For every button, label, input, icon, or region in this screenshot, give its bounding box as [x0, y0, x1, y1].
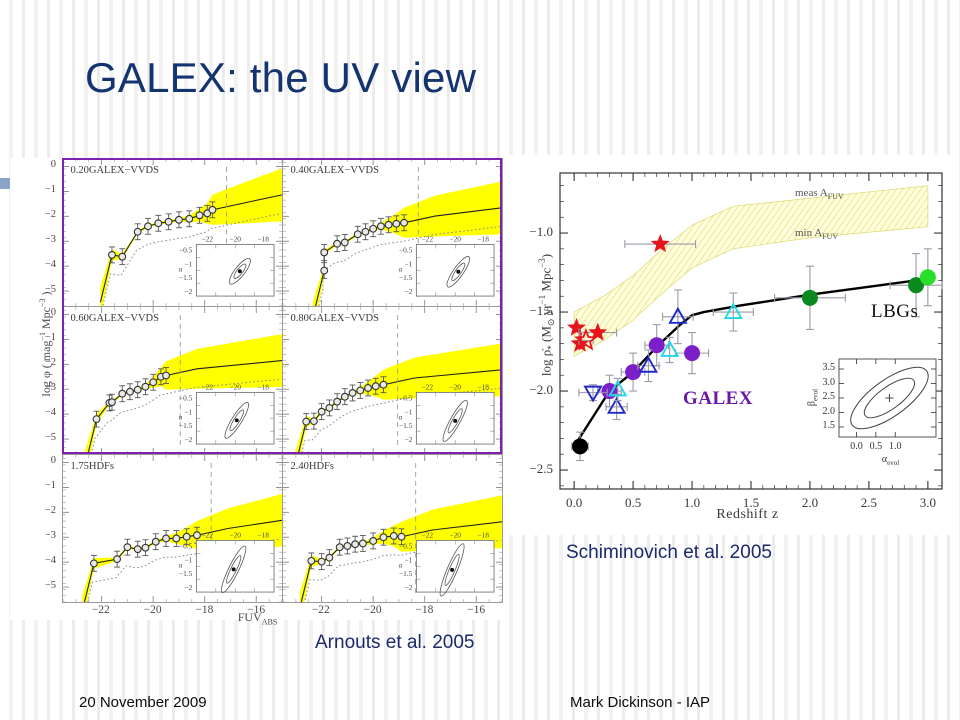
arnouts-y-tick: −3 [10, 234, 56, 245]
schiminovich-x-tick: 0.5 [625, 495, 641, 511]
inset-x-tick: 0.0 [850, 441, 863, 452]
svg-text:−2: −2 [404, 435, 412, 444]
svg-text:−22: −22 [421, 234, 433, 243]
inset-y-tick: 3.5 [801, 362, 835, 373]
schiminovich-x-tick: 1.5 [743, 495, 759, 511]
footer-author: Mark Dickinson - IAP [570, 694, 710, 711]
svg-text:−22: −22 [421, 530, 433, 539]
inset-y-tick: 2.5 [801, 391, 835, 402]
schiminovich-figure: log ρ̇* (M⊙ yr−1 Mpc−3) Redshift z −1.0−… [505, 155, 950, 535]
svg-text:−0.5: −0.5 [398, 541, 412, 550]
svg-text:−2: −2 [404, 583, 412, 592]
svg-text:−1: −1 [184, 555, 192, 564]
svg-text:−2: −2 [184, 583, 192, 592]
arnouts-x-axis-label: FUVABS [10, 610, 505, 626]
schiminovich-plot-svg [505, 155, 950, 535]
svg-text:−2: −2 [184, 435, 192, 444]
svg-text:−20: −20 [229, 530, 241, 539]
caption-schiminovich: Schiminovich et al. 2005 [566, 542, 772, 564]
svg-text:α: α [398, 413, 402, 421]
arnouts-y-tick: −2 [10, 209, 56, 220]
page-title: GALEX: the UV view [85, 54, 476, 102]
arnouts-y-tick: 0 [10, 455, 56, 466]
schiminovich-x-tick: 0.0 [566, 495, 582, 511]
schiminovich-y-tick: −1.5 [507, 303, 553, 319]
arnouts-y-tick: −2 [10, 505, 56, 516]
arnouts-y-tick: −5 [10, 432, 56, 443]
svg-text:−20: −20 [449, 530, 461, 539]
svg-text:−20: −20 [229, 382, 241, 391]
caption-arnouts: Arnouts et al. 2005 [315, 632, 475, 654]
svg-text:α: α [178, 561, 182, 569]
svg-text:−1.5: −1.5 [398, 569, 412, 578]
schiminovich-y-tick: −2.0 [507, 382, 553, 398]
schiminovich-y-tick: −2.5 [507, 461, 553, 477]
svg-text:−20: −20 [229, 234, 241, 243]
arnouts-y-tick: −4 [10, 259, 56, 270]
svg-text:α: α [398, 561, 402, 569]
galex-annotation: GALEX [683, 388, 753, 410]
meas-afuv-label: meas AFUV [795, 187, 844, 201]
svg-text:−20: −20 [449, 382, 461, 391]
schiminovich-y-tick: −1.0 [507, 224, 553, 240]
arnouts-figure: log φ ( mag−1 Mpc−3 ) 0−1−2−3−4−50−1−2−3… [10, 158, 505, 620]
min-afuv-label: min AFUV [795, 227, 838, 241]
svg-text:−20: −20 [449, 234, 461, 243]
arnouts-y-tick: −2 [10, 357, 56, 368]
svg-text:−1: −1 [184, 259, 192, 268]
inset-y-tick: 3.0 [801, 377, 835, 388]
svg-text:−0.5: −0.5 [178, 245, 192, 254]
svg-text:−22: −22 [201, 234, 213, 243]
arnouts-panel-4: 0.80GALEX−VVDS−22−20−18−0.5−1−1.5−2α [282, 306, 503, 455]
svg-text:−1.5: −1.5 [178, 421, 192, 430]
alpha-beta-contour-inset: βevol αevol 3.53.02.52.01.50.00.51.0 [805, 353, 942, 471]
svg-text:−18: −18 [477, 234, 489, 243]
svg-text:α: α [178, 265, 182, 273]
inset-y-tick: 2.0 [801, 406, 835, 417]
inset-y-tick: 1.5 [801, 420, 835, 431]
schiminovich-x-tick: 3.0 [920, 495, 936, 511]
svg-text:−1: −1 [404, 259, 412, 268]
slide-root: GALEX: the UV view log φ ( mag−1 Mpc−3 )… [0, 0, 960, 720]
svg-text:−18: −18 [257, 530, 269, 539]
schiminovich-x-tick: 2.5 [861, 495, 877, 511]
svg-text:−1: −1 [404, 555, 412, 564]
arnouts-y-tick: 0 [10, 307, 56, 318]
arnouts-y-tick: −1 [10, 184, 56, 195]
svg-text:α: α [178, 413, 182, 421]
svg-text:−1.5: −1.5 [398, 273, 412, 282]
svg-text:−1: −1 [404, 407, 412, 416]
arnouts-y-tick: −4 [10, 555, 56, 566]
svg-text:−18: −18 [477, 382, 489, 391]
arnouts-y-tick: −4 [10, 407, 56, 418]
svg-text:−2: −2 [404, 287, 412, 296]
arnouts-panel-5: 1.75HDFs−22−20−18−0.5−1−1.5−2α [62, 454, 283, 603]
arnouts-panel-3: 0.60GALEX−VVDS−22−20−18−0.5−1−1.5−2α [62, 306, 283, 455]
svg-text:−1.5: −1.5 [398, 421, 412, 430]
inset-x-tick: 0.5 [870, 441, 883, 452]
svg-text:−0.5: −0.5 [398, 393, 412, 402]
arnouts-panel-6: 2.40HDFs−22−20−18−0.5−1−1.5−2α [282, 454, 503, 603]
schiminovich-x-tick: 2.0 [802, 495, 818, 511]
svg-text:−0.5: −0.5 [398, 245, 412, 254]
svg-text:−0.5: −0.5 [178, 393, 192, 402]
svg-text:−1.5: −1.5 [178, 569, 192, 578]
arnouts-y-tick: −3 [10, 382, 56, 393]
svg-text:α: α [398, 265, 402, 273]
arnouts-panel-2: 0.40GALEX−VVDS−22−20−18−0.5−1−1.5−2α [282, 158, 503, 307]
footer-date: 20 November 2009 [79, 694, 207, 711]
inset-x-axis-label: αevol [839, 454, 942, 467]
svg-text:−18: −18 [477, 530, 489, 539]
lbgs-annotation: LBGs [871, 301, 918, 323]
arnouts-panel-grid: 0.20GALEX−VVDS−22−20−18−0.5−1−1.5−2α0.40… [62, 158, 502, 602]
svg-text:−1.5: −1.5 [178, 273, 192, 282]
arnouts-y-tick: −5 [10, 284, 56, 295]
svg-text:−18: −18 [257, 234, 269, 243]
arnouts-panel-1: 0.20GALEX−VVDS−22−20−18−0.5−1−1.5−2α [62, 158, 283, 307]
arnouts-y-tick: −3 [10, 530, 56, 541]
schiminovich-x-tick: 1.0 [684, 495, 700, 511]
svg-text:−22: −22 [201, 382, 213, 391]
svg-text:−2: −2 [184, 287, 192, 296]
inset-x-tick: 1.0 [889, 441, 902, 452]
svg-text:−18: −18 [257, 382, 269, 391]
arnouts-y-tick: 0 [10, 159, 56, 170]
svg-text:−22: −22 [201, 530, 213, 539]
svg-text:−22: −22 [421, 382, 433, 391]
svg-text:−0.5: −0.5 [178, 541, 192, 550]
arnouts-y-tick: −5 [10, 580, 56, 591]
arnouts-y-tick: −1 [10, 480, 56, 491]
arnouts-y-tick: −1 [10, 332, 56, 343]
svg-text:−1: −1 [184, 407, 192, 416]
